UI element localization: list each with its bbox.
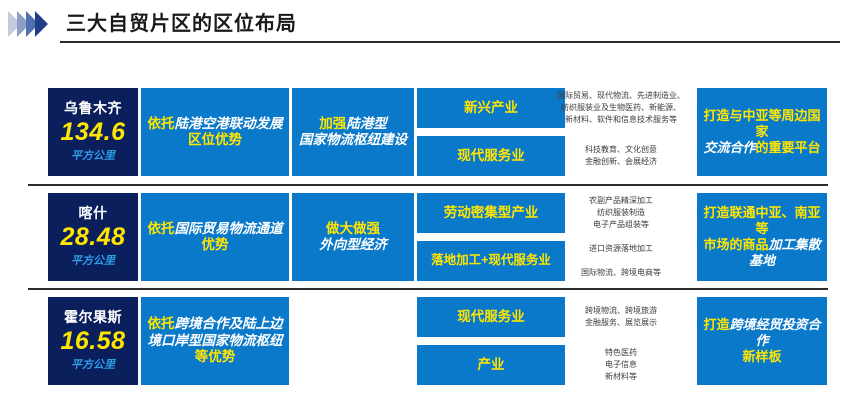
region-area-1: 28.48	[60, 223, 125, 252]
advantage-card-2: 依托跨境合作及陆上边 境口岸型国家物流枢纽 等优势	[141, 297, 289, 385]
advantage-2-seg1: 依托	[148, 316, 175, 331]
advantage-1-seg3: 优势	[202, 237, 229, 252]
industry-label-text-2-1: 产业	[474, 357, 509, 373]
goal-text-0: 打造与中亚等周边国家 交流合作的重要平台	[697, 108, 827, 156]
industry-label-2-1: 产业	[417, 345, 565, 385]
chevron-triple-icon	[8, 11, 64, 37]
region-area-2: 16.58	[60, 327, 125, 356]
goal-text-2: 打造跨境经贸投资合作 新样板	[697, 317, 827, 365]
advantage-card-0: 依托陆港空港联动发展 区位优势	[141, 88, 289, 176]
goal-card-2: 打造跨境经贸投资合作 新样板	[697, 297, 827, 385]
industry-label-text-1-0: 劳动密集型产业	[440, 205, 543, 221]
advantage-1-seg1: 依托	[148, 221, 175, 236]
strategy-text-0: 加强陆港型 国家物流枢纽建设	[293, 116, 413, 149]
row-divider-2	[28, 288, 828, 290]
goal-1-seg1: 打造联通中亚、南亚等	[703, 205, 820, 236]
slide-header: 三大自贸片区的区位布局	[0, 0, 856, 48]
advantage-text-0: 依托陆港空港联动发展 区位优势	[142, 116, 289, 149]
goal-2-seg3: 新样板	[742, 349, 781, 364]
region-card-1: 喀什 28.48 平方公里	[48, 193, 138, 281]
region-unit-0: 平方公里	[71, 150, 115, 163]
region-card-0: 乌鲁木齐 134.6 平方公里	[48, 88, 138, 176]
row-divider-1	[28, 184, 828, 186]
industry-detail-text-1-0: 农副产品精深加工 纺织服装制造 电子产品组装等	[589, 195, 653, 231]
industry-label-text-0-1: 现代服务业	[453, 148, 529, 164]
region-unit-1: 平方公里	[71, 255, 115, 268]
industry-label-text-1-1: 落地加工+现代服务业	[427, 253, 555, 268]
region-name-0: 乌鲁木齐	[64, 100, 122, 117]
industry-label-0-0: 新兴产业	[417, 88, 565, 128]
advantage-card-1: 依托国际贸易物流通道 优势	[141, 193, 289, 281]
region-card-2: 霍尔果斯 16.58 平方公里	[48, 297, 138, 385]
industry-label-1-0: 劳动密集型产业	[417, 193, 565, 233]
region-name-1: 喀什	[79, 205, 108, 222]
goal-card-0: 打造与中亚等周边国家 交流合作的重要平台	[697, 88, 827, 176]
advantage-1-seg2: 国际贸易物流通道	[175, 221, 283, 236]
industry-label-2-0: 现代服务业	[417, 297, 565, 337]
region-area-0: 134.6	[60, 118, 125, 147]
region-unit-2: 平方公里	[71, 359, 115, 372]
industry-detail-text-2-0: 跨境物流、跨境旅游 金融服务、展览展示	[585, 305, 657, 329]
industry-detail-2-0: 跨境物流、跨境旅游 金融服务、展览展示	[547, 297, 695, 337]
industry-detail-0-0: 国际贸易、现代物流、先进制造业、 纺织服装业及生物医药、新能源、 新材料、软件和…	[547, 88, 695, 128]
industry-detail-0-1: 科技教育、文化创意 金融创新、会展经济	[547, 136, 695, 176]
strategy-0-seg2: 陆港型	[346, 116, 387, 131]
advantage-2-seg3: 境口岸型国家物流枢纽	[148, 333, 283, 348]
industry-detail-1-0: 农副产品精深加工 纺织服装制造 电子产品组装等	[547, 193, 695, 233]
advantage-0-seg3: 区位优势	[188, 132, 242, 147]
industry-label-1-1: 落地加工+现代服务业	[417, 241, 565, 281]
advantage-2-seg4: 等优势	[195, 349, 236, 364]
header-divider	[60, 41, 840, 43]
industry-detail-text-0-1: 科技教育、文化创意 金融创新、会展经济	[585, 144, 657, 168]
industry-detail-1-1: 进口资源落地加工 国际物流、跨境电商等	[547, 241, 695, 281]
goal-2-seg2: 跨境经贸投资合作	[730, 317, 821, 348]
goal-2-seg1: 打造	[703, 317, 729, 332]
advantage-0-seg2: 陆港空港联动发展	[175, 116, 283, 131]
strategy-card-1: 做大做强 外向型经济	[292, 193, 414, 281]
goal-1-seg2: 市场的商品	[703, 237, 768, 252]
strategy-text-1: 做大做强 外向型经济	[313, 221, 393, 254]
strategy-0-seg1: 加强	[319, 116, 346, 131]
strategy-0-seg3: 国家物流枢纽建设	[299, 132, 407, 147]
advantage-text-1: 依托国际贸易物流通道 优势	[142, 221, 289, 254]
region-name-2: 霍尔果斯	[64, 309, 122, 326]
advantage-text-2: 依托跨境合作及陆上边 境口岸型国家物流枢纽 等优势	[142, 316, 289, 365]
industry-detail-text-2-1: 特色医药 电子信息 新材料等	[605, 347, 637, 383]
page-title: 三大自贸片区的区位布局	[66, 7, 297, 36]
industry-detail-text-1-1: 进口资源落地加工 国际物流、跨境电商等	[581, 243, 661, 279]
chevron-right-icon-4	[35, 11, 48, 37]
industry-detail-text-0-0: 国际贸易、现代物流、先进制造业、 纺织服装业及生物医药、新能源、 新材料、软件和…	[557, 90, 685, 126]
goal-0-seg3: 的重要平台	[756, 140, 821, 155]
advantage-0-seg1: 依托	[148, 116, 175, 131]
goal-card-1: 打造联通中亚、南亚等 市场的商品加工集散基地	[697, 193, 827, 281]
slide-root: 三大自贸片区的区位布局 乌鲁木齐 134.6 平方公里 依托陆港空港联动发展 区…	[0, 0, 856, 415]
strategy-1-seg3: 外向型经济	[319, 237, 387, 252]
goal-0-seg1: 打造与中亚等周边国家	[703, 108, 820, 139]
industry-detail-2-1: 特色医药 电子信息 新材料等	[547, 345, 695, 385]
industry-label-text-2-0: 现代服务业	[453, 309, 529, 325]
advantage-2-seg2: 跨境合作及陆上边	[175, 316, 283, 331]
strategy-card-0: 加强陆港型 国家物流枢纽建设	[292, 88, 414, 176]
goal-0-seg2: 交流合作	[703, 140, 755, 155]
industry-label-text-0-0: 新兴产业	[460, 100, 522, 116]
industry-label-0-1: 现代服务业	[417, 136, 565, 176]
strategy-1-seg1: 做大做强	[326, 221, 380, 236]
goal-text-1: 打造联通中亚、南亚等 市场的商品加工集散基地	[697, 205, 827, 268]
